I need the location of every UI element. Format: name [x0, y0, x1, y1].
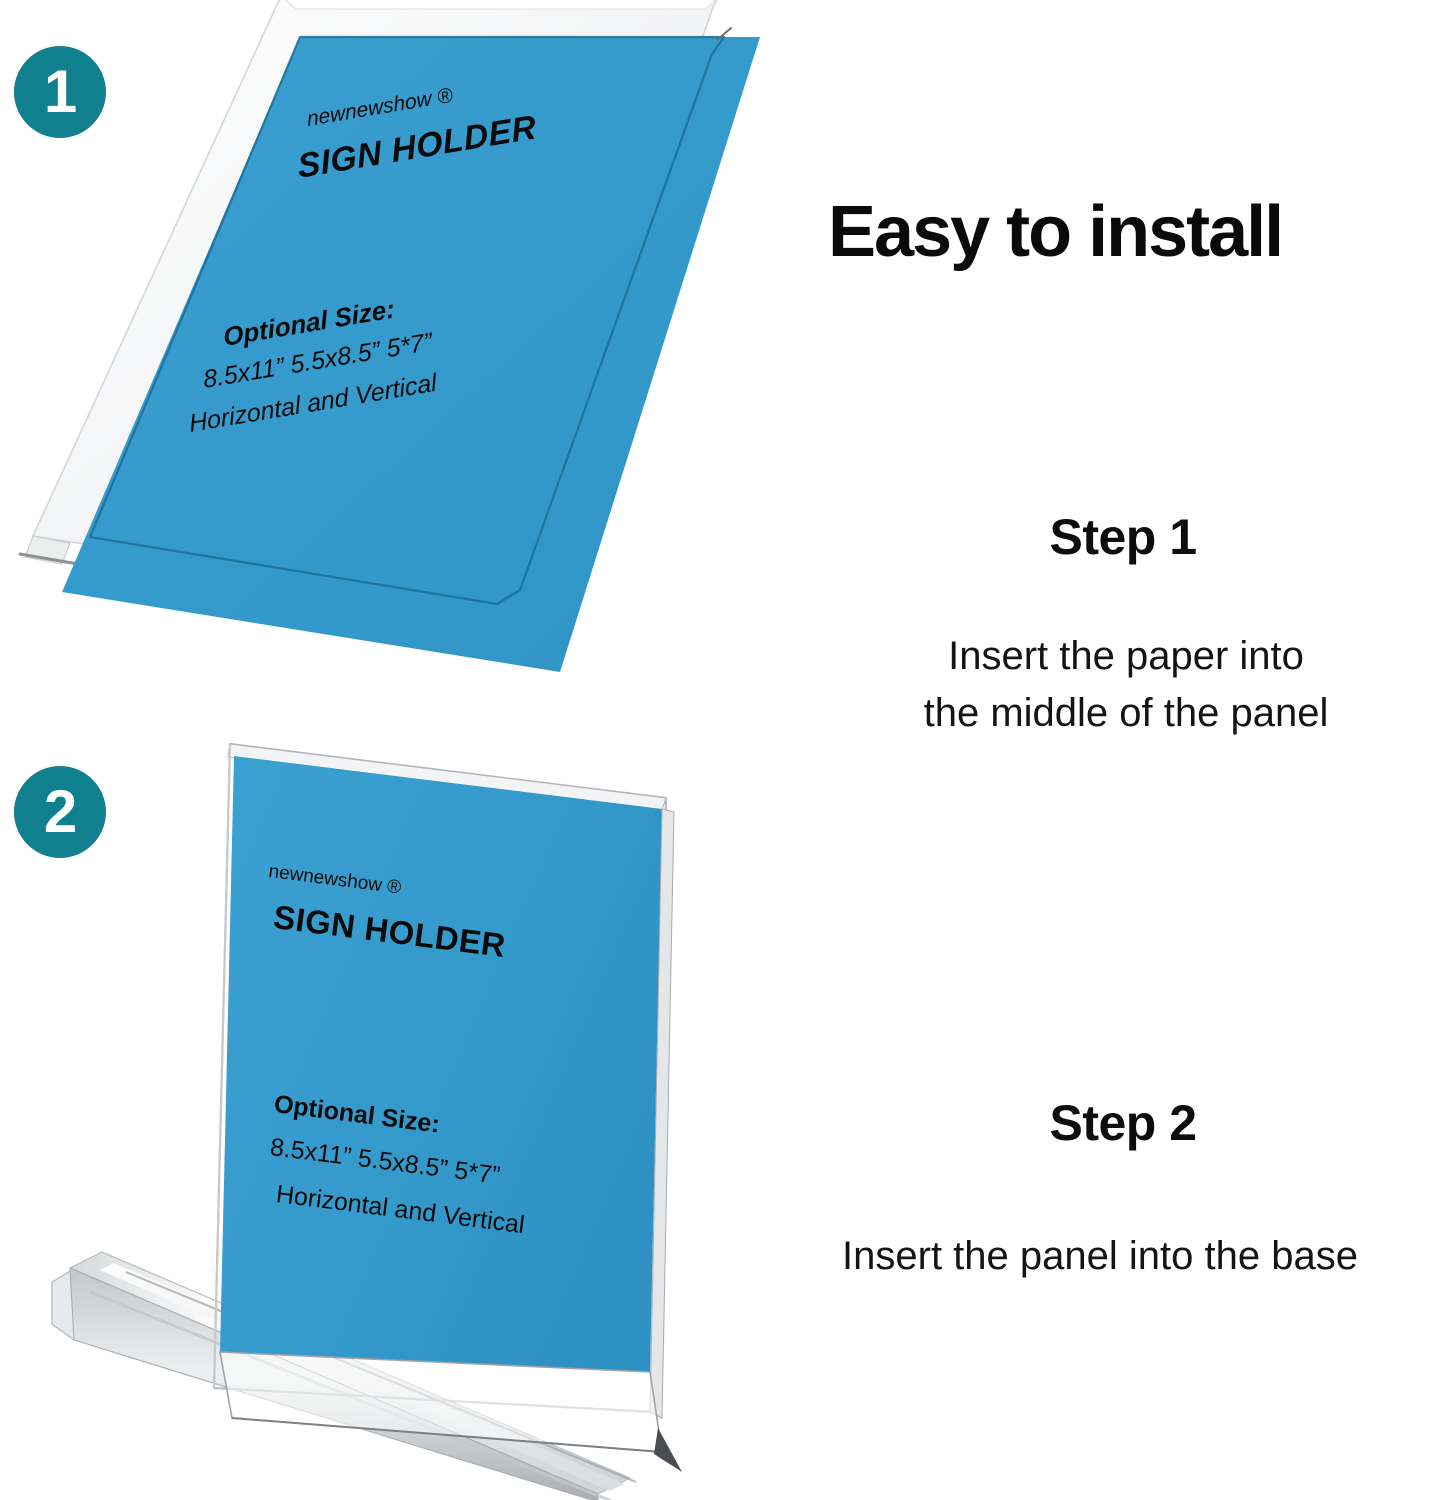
- step-2-description: Insert the panel into the base: [770, 1228, 1430, 1285]
- infographic-canvas: newnewshow ® SIGN HOLDER Optional Size: …: [0, 0, 1438, 1500]
- step-badge-1: 1: [14, 46, 106, 138]
- step-2-title: Step 2: [858, 1098, 1388, 1148]
- step-1-description: Insert the paper into the middle of the …: [838, 628, 1414, 742]
- page-headline: Easy to install: [828, 196, 1428, 268]
- step-badge-2: 2: [14, 766, 106, 858]
- step-1-title: Step 1: [858, 512, 1388, 562]
